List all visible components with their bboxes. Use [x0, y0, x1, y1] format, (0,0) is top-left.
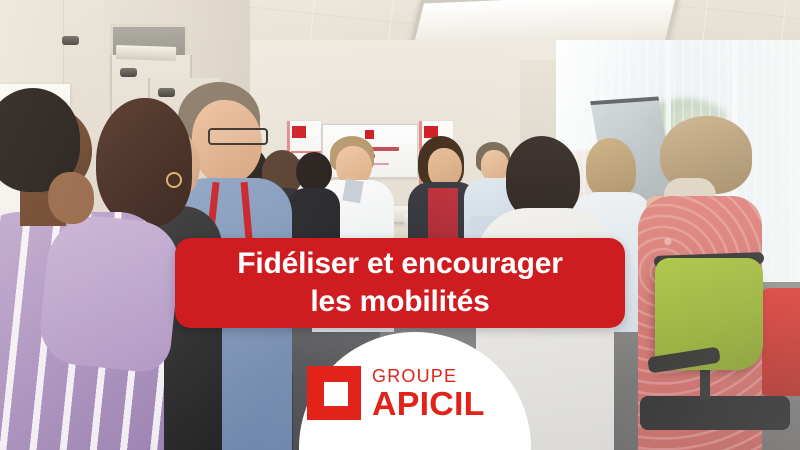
red-chair [760, 288, 800, 396]
chair-post [700, 368, 710, 400]
headline-banner: Fidéliser et encourager les mobilités [175, 238, 625, 328]
shirt-collar [342, 179, 364, 204]
headline-line-1: Fidéliser et encourager [237, 245, 563, 283]
earring [166, 172, 182, 188]
chair-base [640, 396, 790, 430]
logo-square-inner [324, 382, 348, 406]
promo-image: Fidéliser et encourager les mobilités GR… [0, 0, 800, 450]
glasses-icon [208, 128, 268, 145]
wall-sensor-icon [62, 36, 79, 45]
person-hand [48, 172, 94, 224]
person-hair [96, 98, 192, 226]
door-closer [116, 45, 176, 61]
logo-prefix: GROUPE [372, 367, 481, 385]
slide-logo-icon [365, 130, 374, 139]
wall-sensor-icon [120, 68, 137, 77]
square-outline-icon [307, 366, 361, 420]
poster-logo-icon [292, 126, 306, 138]
logo-wordmark: GROUPE APICIL [372, 367, 481, 420]
person-sleeve [37, 212, 184, 375]
person-hair [586, 138, 636, 198]
groupe-apicil-logo: GROUPE APICIL [307, 362, 522, 424]
person-hair [296, 152, 332, 192]
headline-line-2: les mobilités [310, 283, 489, 321]
wall-sensor-icon [158, 88, 175, 97]
logo-name: APICIL [372, 387, 485, 420]
